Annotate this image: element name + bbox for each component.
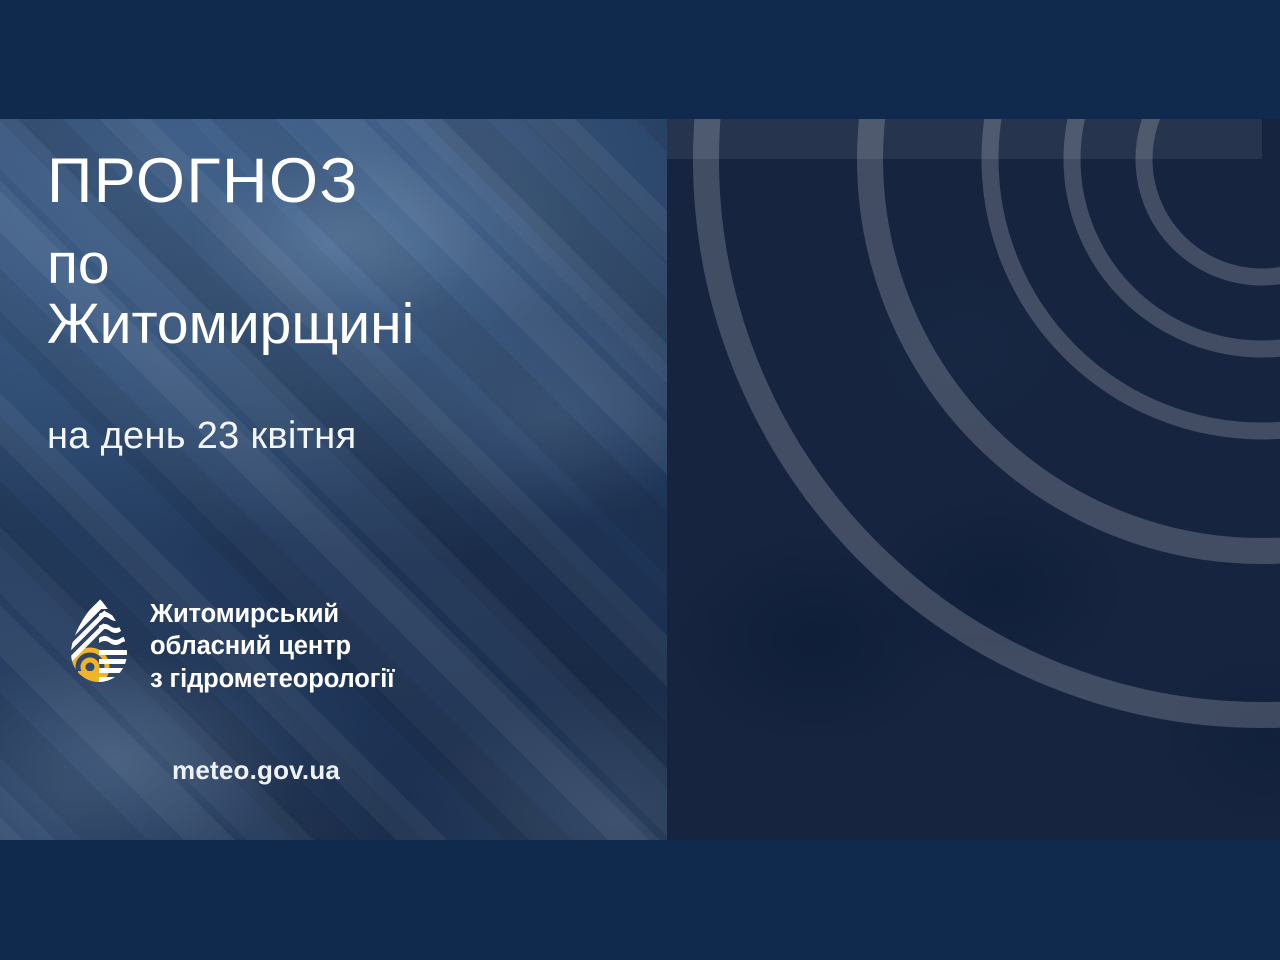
headline-line-1: ПРОГНОЗ <box>47 150 414 213</box>
bottom-frame-bar <box>0 840 1280 960</box>
left-text-panel: ПРОГНОЗ по Житомирщині на день 23 квітня <box>0 119 667 840</box>
cloud-photo-panel <box>667 119 1280 840</box>
weather-forecast-poster: ПРОГНОЗ по Житомирщині на день 23 квітня <box>0 0 1280 960</box>
water-droplet-waves-logo-icon <box>68 597 130 683</box>
organisation-line-3: з гідрометеорології <box>150 663 394 695</box>
organisation-line-1: Житомирський <box>150 598 394 630</box>
headline-line-3: Житомирщині <box>47 294 414 354</box>
concentric-arcs-overlay <box>667 119 1280 840</box>
top-frame-bar <box>0 0 1280 119</box>
arc-rings <box>667 119 1280 840</box>
headline-line-2: по <box>47 234 414 294</box>
organisation-logo: Житомирський обласний центр з гідрометео… <box>68 597 394 695</box>
page-title: ПРОГНОЗ по Житомирщині <box>47 150 414 355</box>
content-band: ПРОГНОЗ по Житомирщині на день 23 квітня <box>0 119 1280 840</box>
forecast-date-subtitle: на день 23 квітня <box>47 415 356 458</box>
organisation-name: Житомирський обласний центр з гідрометео… <box>150 597 394 695</box>
organisation-line-2: обласний центр <box>150 630 394 662</box>
website-url: meteo.gov.ua <box>172 755 340 786</box>
